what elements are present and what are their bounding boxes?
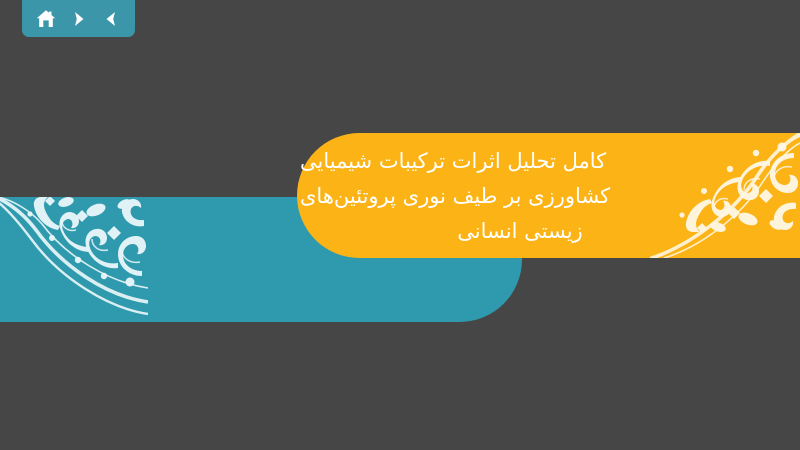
forward-triangle-icon: [69, 9, 89, 29]
yellow-accent-band: [297, 133, 800, 258]
home-icon: [35, 8, 57, 30]
back-triangle-icon: [101, 9, 121, 29]
arabesque-ornament-teal: [0, 197, 148, 322]
slide-canvas: کامل تحلیل اثرات ترکیبات شیمیایی کشاورزی…: [0, 0, 800, 450]
home-button[interactable]: [33, 6, 59, 32]
navigation-bar: [22, 0, 135, 37]
arabesque-ornament-yellow: [650, 133, 800, 258]
forward-button[interactable]: [66, 6, 92, 32]
back-button[interactable]: [98, 6, 124, 32]
